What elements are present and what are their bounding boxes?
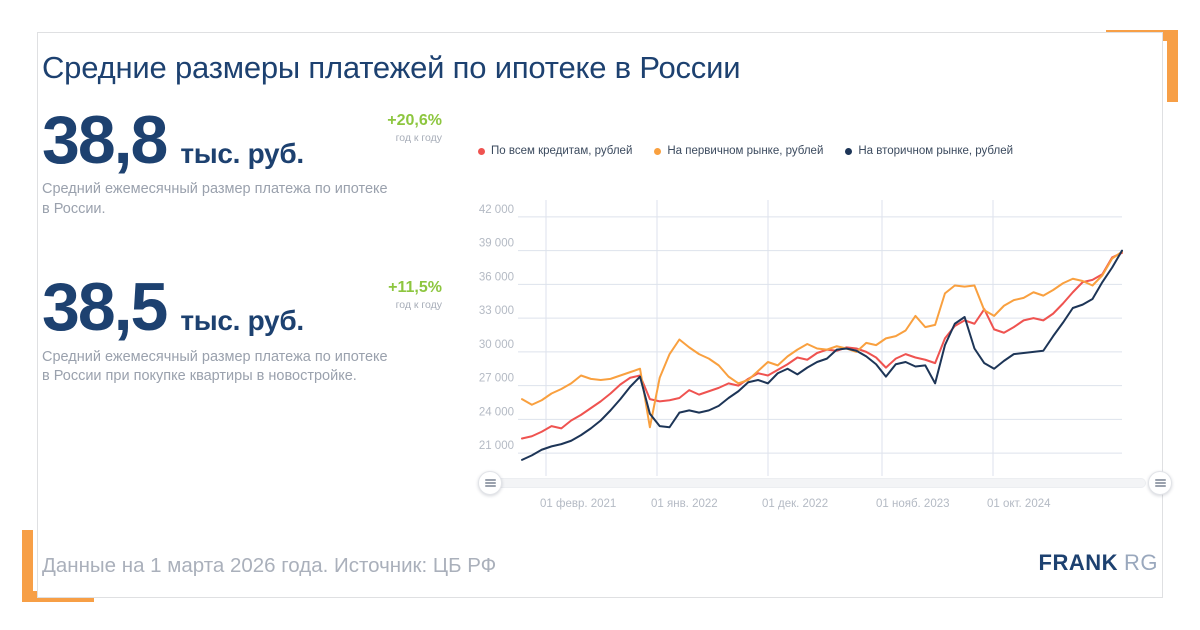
stat-delta-note: год к году [387,132,442,144]
chart-scrollbar-track[interactable] [490,478,1146,488]
stat-description: Средний ежемесячный размер платежа по ип… [42,180,392,219]
stat-description: Средний ежемесячный размер платежа по ип… [42,348,392,387]
chart-series-line [522,251,1122,460]
grip-icon [485,477,496,488]
page-title: Средние размеры платежей по ипотеке в Ро… [42,50,740,86]
chart-svg: 21 00024 00027 00030 00033 00036 00039 0… [470,194,1130,494]
chart-y-tick-label: 42 000 [479,204,514,216]
corner-bracket-vertical [22,530,33,602]
chart-x-tick-label: 01 окт. 2024 [987,498,1051,510]
chart-y-tick-label: 39 000 [479,238,514,250]
corner-bracket-vertical [1167,30,1178,102]
stat-delta-percent: +11,5% [388,279,442,297]
stat-headline: 38,5 тыс. руб. [42,275,442,340]
stat-delta-note: год к году [388,299,442,311]
legend-dot-icon [478,148,485,155]
chart-legend-item[interactable]: На вторичном рынке, рублей [845,145,1013,157]
stat-unit: тыс. руб. [180,305,303,337]
footer-note: Данные на 1 марта 2026 года. Источник: Ц… [42,554,496,578]
legend-dot-icon [845,148,852,155]
infographic-root: Средние размеры платежей по ипотеке в Ро… [0,0,1200,630]
chart-x-tick-label: 01 нояб. 2023 [876,498,950,510]
grip-icon [1155,477,1166,488]
legend-dot-icon [654,148,661,155]
stat-delta: +20,6% год к году [387,112,442,144]
chart-series-line [522,252,1122,428]
brand-logo: FRANK RG [1039,550,1159,576]
chart-y-tick-label: 36 000 [479,271,514,283]
chart-y-tick-label: 30 000 [479,339,514,351]
stat-value: 38,5 [42,275,166,340]
chart-x-tick-label: 01 янв. 2022 [651,498,718,510]
logo-primary: FRANK [1039,550,1119,576]
stat-headline: 38,8 тыс. руб. [42,108,442,173]
chart-legend: По всем кредитам, рублейНа первичном рын… [470,140,1130,162]
stat-block-primary-market: 38,5 тыс. руб. Средний ежемесячный разме… [42,275,442,386]
chart-y-tick-label: 33 000 [479,305,514,317]
chart-legend-label: По всем кредитам, рублей [491,145,632,157]
chart-y-tick-label: 24 000 [479,406,514,418]
chart-x-axis: 01 февр. 202101 янв. 202201 дек. 202201 … [470,498,1130,520]
stat-delta-percent: +20,6% [387,112,442,130]
stat-unit: тыс. руб. [180,138,303,170]
chart: По всем кредитам, рублейНа первичном рын… [470,140,1130,500]
logo-secondary: RG [1124,550,1158,576]
scrollbar-right-handle[interactable] [1148,471,1172,495]
chart-x-tick-label: 01 дек. 2022 [762,498,828,510]
chart-series-line [522,253,1122,439]
stat-block-total: 38,8 тыс. руб. Средний ежемесячный разме… [42,108,442,219]
chart-x-tick-label: 01 февр. 2021 [540,498,616,510]
scrollbar-left-handle[interactable] [478,471,502,495]
chart-legend-label: На первичном рынке, рублей [667,145,823,157]
chart-legend-item[interactable]: На первичном рынке, рублей [654,145,823,157]
chart-legend-item[interactable]: По всем кредитам, рублей [478,145,632,157]
chart-y-tick-label: 21 000 [479,440,514,452]
stats-column: 38,8 тыс. руб. Средний ежемесячный разме… [42,108,442,387]
chart-legend-label: На вторичном рынке, рублей [858,145,1013,157]
stat-value: 38,8 [42,108,166,173]
stat-delta: +11,5% год к году [388,279,442,311]
chart-y-tick-label: 27 000 [479,373,514,385]
chart-plot-area: 21 00024 00027 00030 00033 00036 00039 0… [470,194,1130,494]
